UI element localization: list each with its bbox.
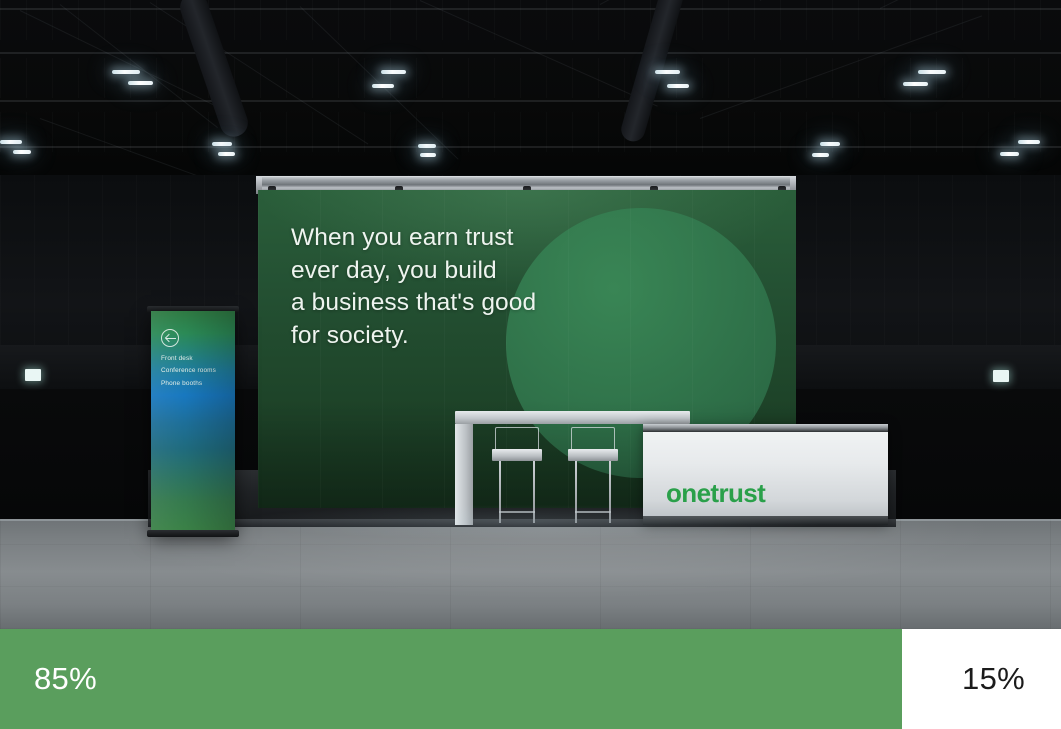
wayfinding-banner: Front desk Conference rooms Phone booths <box>151 311 235 533</box>
ceiling-truss-beam <box>0 52 1061 54</box>
ceiling-truss-beam <box>0 146 1061 148</box>
ceiling-light <box>812 153 829 157</box>
bar-secondary-label: 15% <box>962 661 1025 697</box>
bar-segment-primary: 85% <box>0 629 902 729</box>
banner-bottom-cap <box>147 530 239 537</box>
ceiling-light <box>0 140 22 144</box>
ceiling-light <box>903 82 928 86</box>
ceiling-light <box>667 84 689 88</box>
ceiling-light <box>820 142 840 146</box>
banner-item-front-desk: Front desk <box>161 353 233 365</box>
ceiling-structure <box>0 0 1061 190</box>
ceiling-truss-beam <box>0 100 1061 102</box>
wall-exit-sign <box>993 370 1009 382</box>
ceiling-light <box>418 144 436 148</box>
backdrop-headline: When you earn trust ever day, you build … <box>291 222 591 352</box>
floor-light-glow <box>240 505 820 539</box>
ceiling-light <box>128 81 153 85</box>
ceiling-light <box>372 84 394 88</box>
high-counter-top <box>455 411 690 424</box>
stool-backrest <box>495 427 539 451</box>
ceiling-light <box>1018 140 1040 144</box>
ceiling-light <box>420 153 436 157</box>
screenshot-stage: When you earn trust ever day, you build … <box>0 0 1061 729</box>
bar-segment-secondary: 15% <box>902 629 1061 729</box>
arrow-left-circle-icon <box>161 329 179 347</box>
ceiling-panel-row <box>0 0 1061 40</box>
bar-primary-label: 85% <box>34 661 97 697</box>
ceiling-light <box>212 142 232 146</box>
ceiling-light <box>1000 152 1019 156</box>
ceiling-light <box>112 70 140 74</box>
wall-exit-sign <box>25 369 41 381</box>
stool-seat <box>568 449 618 461</box>
ceiling-light <box>655 70 680 74</box>
banner-direction-list: Front desk Conference rooms Phone booths <box>161 353 233 390</box>
banner-item-phone-booths: Phone booths <box>161 378 233 390</box>
ceiling-light <box>381 70 406 74</box>
percentage-bar: 85% 15% <box>0 629 1061 729</box>
ceiling-light <box>13 150 31 154</box>
stool-seat <box>492 449 542 461</box>
exhibition-hall-photo: When you earn trust ever day, you build … <box>0 0 1061 629</box>
banner-item-conference-rooms: Conference rooms <box>161 365 233 377</box>
reception-desk-countertop <box>643 424 888 432</box>
ceiling-light <box>918 70 946 74</box>
stool-backrest <box>571 427 615 451</box>
ceiling-light <box>218 152 235 156</box>
